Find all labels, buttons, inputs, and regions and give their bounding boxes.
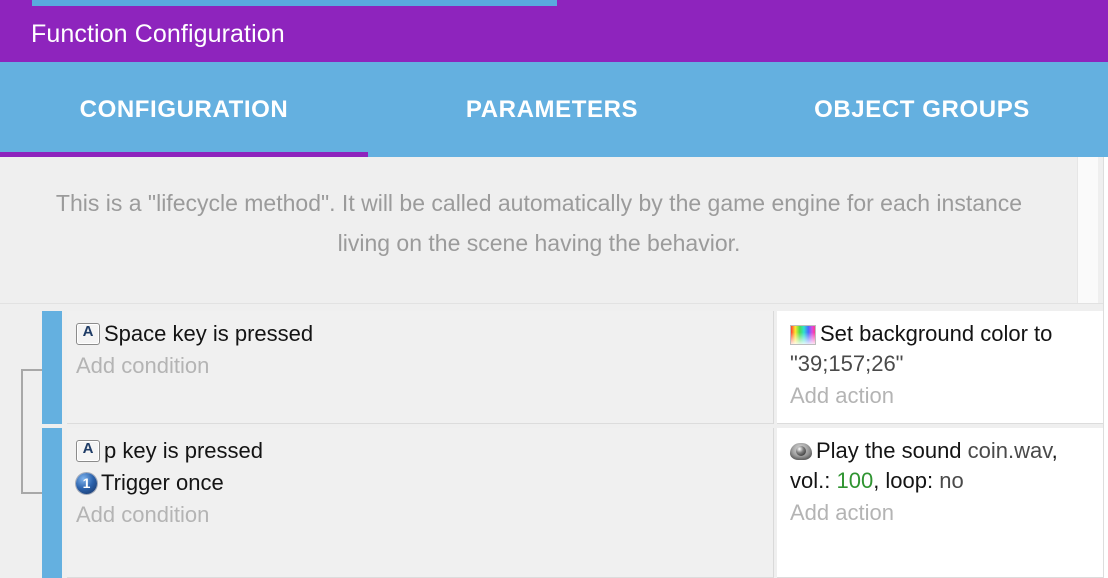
action-text: Set background color to	[820, 321, 1052, 346]
tab-parameters[interactable]: PARAMETERS	[368, 62, 736, 157]
keyboard-key-icon	[76, 440, 100, 462]
window-title-bar: Function Configuration	[0, 6, 1108, 62]
add-action-button[interactable]: Add action	[790, 381, 1097, 411]
event-row-marker[interactable]	[42, 311, 62, 424]
tab-parameters-label: PARAMETERS	[466, 96, 638, 124]
keyboard-key-icon	[76, 323, 100, 345]
condition-text: Space	[104, 321, 166, 346]
condition-text-suffix: key is pressed	[166, 321, 313, 346]
actions-column[interactable]: Play the sound coin.wav, vol.: 100, loop…	[777, 428, 1103, 578]
actions-column[interactable]: Set background color to "39;157;26" Add …	[777, 311, 1103, 424]
tab-configuration[interactable]: CONFIGURATION	[0, 62, 368, 157]
condition-item[interactable]: p key is pressed	[76, 436, 773, 466]
condition-item[interactable]: Space key is pressed	[76, 319, 773, 349]
tab-object-groups-label: OBJECT GROUPS	[814, 96, 1030, 124]
sound-icon	[790, 441, 812, 462]
action-param-volume[interactable]: 100	[836, 468, 873, 493]
event-row[interactable]: p key is pressed Trigger once Add condit…	[42, 428, 1103, 578]
lifecycle-description-panel: This is a "lifecycle method". It will be…	[0, 157, 1108, 304]
action-text: Play the sound	[816, 438, 968, 463]
event-row[interactable]: Space key is pressed Add condition Set b…	[42, 311, 1103, 424]
action-param-color[interactable]: "39;157;26"	[790, 351, 904, 376]
condition-text: p	[104, 438, 116, 463]
description-scrollbar[interactable]	[1077, 157, 1098, 303]
condition-item[interactable]: Trigger once	[76, 468, 773, 498]
events-right-edge	[1103, 157, 1108, 578]
trigger-once-icon	[76, 473, 97, 494]
condition-text-suffix: key is pressed	[116, 438, 263, 463]
add-condition-button[interactable]: Add condition	[76, 500, 773, 530]
tab-object-groups[interactable]: OBJECT GROUPS	[736, 62, 1108, 157]
event-group-bracket	[21, 369, 43, 494]
conditions-column[interactable]: p key is pressed Trigger once Add condit…	[67, 428, 773, 578]
add-action-button[interactable]: Add action	[790, 498, 1097, 528]
action-item[interactable]: Play the sound coin.wav, vol.: 100, loop…	[790, 436, 1097, 496]
page-title: Function Configuration	[0, 20, 285, 49]
event-row-marker[interactable]	[42, 428, 62, 578]
lifecycle-description-text: This is a "lifecycle method". It will be…	[0, 157, 1078, 303]
action-param-file[interactable]: coin.wav	[968, 438, 1052, 463]
conditions-column[interactable]: Space key is pressed Add condition	[67, 311, 773, 424]
action-text: , loop:	[873, 468, 939, 493]
add-condition-button[interactable]: Add condition	[76, 351, 773, 381]
events-sheet: Space key is pressed Add condition Set b…	[0, 304, 1103, 578]
color-swatch-icon	[790, 325, 816, 345]
tab-configuration-label: CONFIGURATION	[80, 96, 289, 124]
tab-bar: CONFIGURATION PARAMETERS OBJECT GROUPS	[0, 62, 1108, 157]
condition-text: Trigger once	[101, 470, 224, 495]
action-item[interactable]: Set background color to "39;157;26"	[790, 319, 1097, 379]
action-param-loop[interactable]: no	[939, 468, 963, 493]
